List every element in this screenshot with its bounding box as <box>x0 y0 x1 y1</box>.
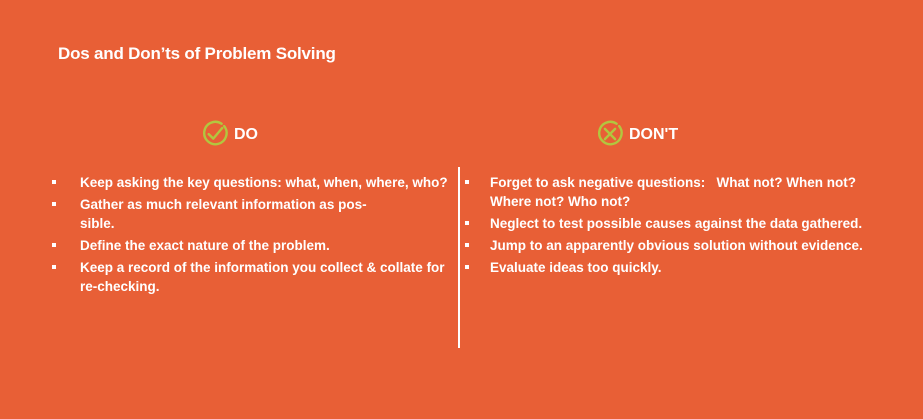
bullet-marker-icon <box>52 180 56 184</box>
check-circle-icon <box>200 119 230 149</box>
column-divider <box>458 167 460 348</box>
column-do-label: DO <box>234 127 258 143</box>
column-do: DO Keep asking the key questions: what, … <box>40 112 450 299</box>
columns-container: DO Keep asking the key questions: what, … <box>0 112 923 362</box>
dont-list: Forget to ask negative questions: What n… <box>455 173 885 277</box>
bullet-marker-icon <box>465 180 469 184</box>
list-item: Jump to an apparently obvious solution w… <box>455 236 885 255</box>
list-item-text: Gather as much relevant information as p… <box>80 195 450 233</box>
list-item: Keep a record of the information you col… <box>40 258 450 296</box>
x-circle-icon <box>595 119 625 149</box>
list-item-text: Neglect to test possible causes against … <box>490 214 885 233</box>
bullet-marker-icon <box>465 265 469 269</box>
list-item: Define the exact nature of the problem. <box>40 236 450 255</box>
bullet-marker-icon <box>52 202 56 206</box>
list-item: Forget to ask negative questions: What n… <box>455 173 885 211</box>
column-dont-header: DON'T <box>455 112 885 156</box>
list-item-text: Keep a record of the information you col… <box>80 258 450 296</box>
column-do-header: DO <box>40 112 450 156</box>
list-item: Neglect to test possible causes against … <box>455 214 885 233</box>
list-item-text: Jump to an apparently obvious solution w… <box>490 236 885 255</box>
list-item: Keep asking the key questions: what, whe… <box>40 173 450 192</box>
page-title: Dos and Don’ts of Problem Solving <box>58 44 336 64</box>
column-dont: DON'T Forget to ask negative questions: … <box>455 112 885 280</box>
bullet-marker-icon <box>52 265 56 269</box>
list-item-text: Evaluate ideas too quickly. <box>490 258 885 277</box>
do-list: Keep asking the key questions: what, whe… <box>40 173 450 296</box>
bullet-marker-icon <box>465 243 469 247</box>
bullet-marker-icon <box>465 221 469 225</box>
list-item-text: Keep asking the key questions: what, whe… <box>80 173 450 192</box>
column-dont-label: DON'T <box>629 127 678 143</box>
list-item: Evaluate ideas too quickly. <box>455 258 885 277</box>
list-item-text: Define the exact nature of the problem. <box>80 236 450 255</box>
slide-canvas: Dos and Don’ts of Problem Solving DO Kee… <box>0 0 923 419</box>
list-item: Gather as much relevant information as p… <box>40 195 450 233</box>
list-item-text: Forget to ask negative questions: What n… <box>490 173 885 211</box>
bullet-marker-icon <box>52 243 56 247</box>
